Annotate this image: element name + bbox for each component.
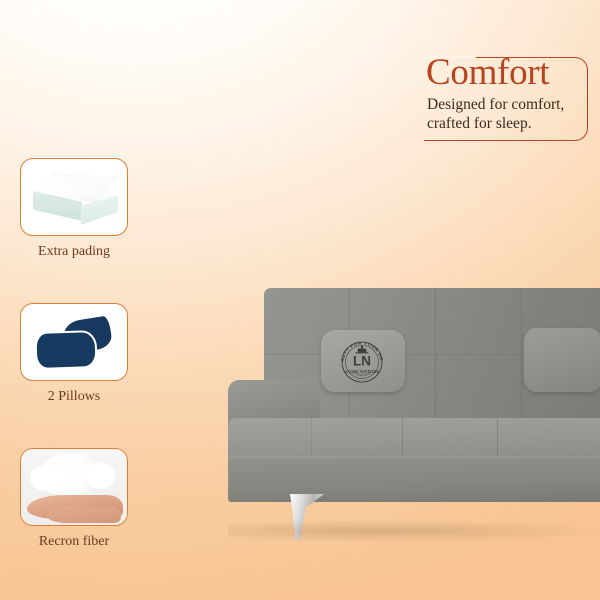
feature-card-image xyxy=(20,448,128,526)
luxo-nation-stamp-icon: BEAUTY FOR YOUR HOME Premium LN LUXO NAT… xyxy=(332,334,392,388)
feature-card-image xyxy=(20,158,128,236)
svg-text:LUXO NATION: LUXO NATION xyxy=(345,369,379,374)
headline-subtitle: Designed for comfort,crafted for sleep. xyxy=(427,95,577,133)
sofa-seat-cushion xyxy=(228,418,600,460)
svg-text:LN: LN xyxy=(353,353,371,368)
feature-card-image xyxy=(20,303,128,381)
subtitle-line: Designed for comfort, xyxy=(427,95,577,114)
feature-extra-padding: Extra pading xyxy=(20,158,128,260)
feature-label: 2 Pillows xyxy=(20,389,128,405)
logo-cushion: BEAUTY FOR YOUR HOME Premium LN LUXO NAT… xyxy=(321,330,405,392)
page-title: Comfort xyxy=(426,51,549,95)
sofa-bed-product: BEAUTY FOR YOUR HOME Premium LN LUXO NAT… xyxy=(228,288,600,548)
feature-label: Extra pading xyxy=(20,244,128,260)
sofa-base xyxy=(228,456,600,502)
product-marketing-image: Comfort Designed for comfort,crafted for… xyxy=(0,0,600,600)
feature-recron-fiber: Recron fiber xyxy=(20,448,128,550)
feature-label: Recron fiber xyxy=(20,534,128,550)
mattress-block-icon xyxy=(33,173,117,223)
headline-block: Comfort Designed for comfort,crafted for… xyxy=(424,57,588,141)
fiber-cloud xyxy=(38,453,108,497)
plain-cushion xyxy=(524,328,600,392)
fiber-in-hand-icon xyxy=(21,449,127,525)
feature-two-pillows: 2 Pillows xyxy=(20,303,128,405)
hand-shape-thumb xyxy=(47,507,121,523)
floor-shadow xyxy=(228,520,600,542)
two-pillows-icon-front xyxy=(34,330,97,370)
subtitle-line: crafted for sleep. xyxy=(427,114,577,133)
